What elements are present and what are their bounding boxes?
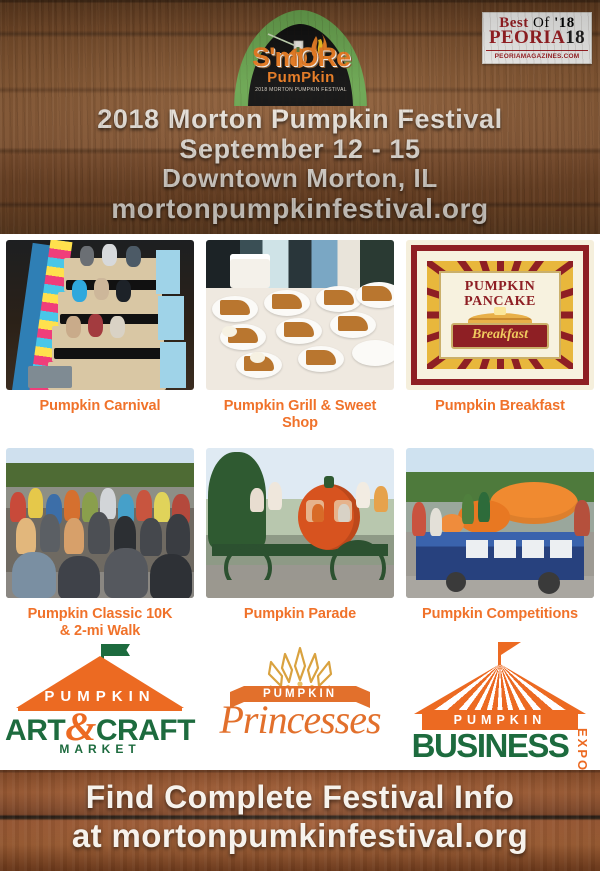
feature-pumpkin-grill-sweet-shop[interactable]: Pumpkin Grill & Sweet Shop (200, 240, 400, 432)
caption-pumpkin-parade: Pumpkin Parade (206, 606, 394, 623)
runner (166, 514, 190, 556)
photo-pumpkin-parade (206, 448, 394, 598)
header-title-line-3: Downtown Morton, IL (0, 164, 600, 193)
caption-pumpkin-carnival: Pumpkin Carnival (6, 398, 194, 415)
parade-rider (312, 504, 324, 522)
photo-pumpkin-grill-sweet-shop (206, 240, 394, 390)
logo-year: 2018 (255, 87, 267, 93)
logo-pumpkin-princesses[interactable]: PUMPKIN Princesses (200, 640, 400, 765)
runner (136, 490, 152, 521)
footer-line-2: at mortonpumkinfestival.org (0, 816, 600, 856)
rider (94, 278, 109, 300)
poster-frame: PUMPKIN PANCAKE Breakfast (411, 245, 589, 385)
runner (150, 554, 192, 598)
pie-slice (362, 286, 392, 301)
spectator (412, 502, 426, 536)
spectator (574, 500, 590, 536)
tent-pole-icon (498, 642, 501, 668)
business-expo-wordmark: BUSINESS (406, 728, 574, 764)
logo-pumpkin-text: PumPkin (236, 70, 366, 86)
entry-card (522, 540, 544, 558)
runner (40, 514, 60, 552)
float-rider (462, 494, 474, 524)
float-wheel (446, 572, 466, 592)
runner (28, 488, 43, 518)
runner (140, 518, 162, 556)
photo-pumpkin-competitions (406, 448, 594, 598)
caption-pumpkin-grill-sweet-shop: Pumpkin Grill & Sweet Shop (206, 398, 394, 432)
pie-slice (272, 294, 302, 309)
whipped-cream (250, 352, 265, 363)
princesses-wordmark: Princesses (200, 696, 400, 744)
photo-pumpkin-breakfast: PUMPKIN PANCAKE Breakfast (406, 240, 594, 390)
best-of-peoria-2018-badge: Best Of '18 PEORIA18 PEORIAMAGAZINES.COM (482, 12, 592, 64)
entry-card (466, 540, 488, 558)
footer-line-1: Find Complete Festival Info (0, 778, 600, 816)
caption-pumpkin-breakfast: Pumpkin Breakfast (406, 398, 594, 415)
poster-title: PUMPKIN PANCAKE (441, 279, 559, 309)
art-craft-word-market: MARKET (0, 742, 200, 756)
business-expo-word-expo: EXPO (572, 728, 590, 764)
footer-wood-banner: Find Complete Festival Info at mortonpum… (0, 770, 600, 871)
runner (88, 512, 110, 554)
caption-pumpkin-classic-10k: Pumpkin Classic 10K & 2-mi Walk (6, 606, 194, 640)
caption-pumpkin-competitions: Pumpkin Competitions (406, 606, 594, 623)
header-wood-banner: S'mORe PumPkin 2018 MORTON PUMPKIN FESTI… (0, 0, 600, 234)
caption-line-2: & 2-mi Walk (6, 623, 194, 640)
poster-inner-panel: PUMPKIN PANCAKE Breakfast (439, 271, 561, 359)
float-wheel (538, 572, 560, 594)
entry-card (494, 540, 516, 558)
feature-pumpkin-parade[interactable]: Pumpkin Parade (200, 448, 400, 623)
badge-website: PEORIAMAGAZINES.COM (486, 50, 588, 61)
logo-festival-name: MORTON PUMPKIN FESTIVAL (269, 87, 347, 93)
parade-rider (356, 482, 370, 508)
footer-call-to-action: Find Complete Festival Info at mortonpum… (0, 778, 600, 856)
runner (58, 556, 100, 598)
float-rider (478, 492, 490, 522)
tent-flag-icon (104, 644, 130, 656)
pie-slice (306, 350, 336, 365)
ride-panel (156, 250, 180, 294)
program-logo-row: PUMPKIN ART&CRAFT MARKET PUMPK (0, 640, 600, 765)
runner (154, 492, 170, 522)
rider (116, 280, 131, 302)
badge-word-eighteen: 18 (565, 27, 585, 48)
morton-pumpkin-festival-poster: S'mORe PumPkin 2018 MORTON PUMPKIN FESTI… (0, 0, 600, 871)
header-title-line-1: 2018 Morton Pumpkin Festival (0, 104, 600, 134)
photo-pumpkin-carnival (6, 240, 194, 390)
header-website: mortonpumpkinfestival.org (0, 193, 600, 225)
runner (64, 518, 84, 554)
cake-container (230, 254, 270, 288)
entry-card (550, 540, 572, 558)
feature-grid: Pumpkin Carnival (0, 240, 600, 640)
pie-slice (284, 322, 314, 337)
small-pumpkin (440, 514, 464, 534)
pumpkin-stem (324, 476, 334, 488)
feature-row-1: Pumpkin Carnival (0, 240, 600, 432)
feature-pumpkin-breakfast[interactable]: PUMPKIN PANCAKE Breakfast Pumpkin Breakf… (400, 240, 600, 415)
photo-pumpkin-classic-10k (6, 448, 194, 598)
parade-rider (268, 482, 282, 510)
feature-row-2: Pumpkin Classic 10K & 2-mi Walk (0, 448, 600, 640)
smore-pumpkin-logo: S'mORe PumPkin 2018 MORTON PUMPKIN FESTI… (228, 8, 373, 110)
butter-pat (494, 307, 506, 315)
parade-rider (250, 488, 264, 512)
feature-pumpkin-competitions[interactable]: Pumpkin Competitions (400, 448, 600, 623)
art-craft-word-pumpkin: PUMPKIN (16, 688, 184, 705)
parade-rider (338, 504, 350, 522)
header-title-line-2: September 12 - 15 (0, 134, 600, 164)
poster-title-line-1: PUMPKIN (441, 279, 559, 294)
ride-seat (54, 348, 162, 359)
striped-tent-icon (414, 664, 586, 714)
poster-breakfast-band: Breakfast (451, 323, 549, 349)
rider (88, 314, 103, 337)
rider (80, 246, 94, 266)
badge-line-peoria: PEORIA18 (486, 29, 588, 47)
spectator (430, 508, 442, 536)
tent-flag-icon (501, 642, 521, 655)
rider (102, 244, 117, 266)
logo-pumpkin-art-craft-market[interactable]: PUMPKIN ART&CRAFT MARKET (0, 640, 200, 765)
rider (110, 316, 125, 338)
whipped-cream (222, 326, 237, 337)
feature-pumpkin-classic-10k[interactable]: Pumpkin Classic 10K & 2-mi Walk (0, 448, 200, 640)
rider (66, 316, 81, 338)
ride-panel (158, 296, 184, 340)
ride-base (28, 366, 72, 388)
pie-slice (324, 290, 354, 305)
pie-plate (352, 340, 394, 366)
runner (104, 548, 148, 598)
runner (16, 518, 36, 554)
badge-word-peoria: PEORIA (489, 27, 565, 48)
pie-slice (220, 300, 250, 315)
logo-pumpkin-business-expo[interactable]: PUMPKIN BUSINESS EXPO (400, 640, 600, 765)
rider (126, 246, 141, 267)
pie-slice (338, 316, 368, 331)
ride-panel (160, 342, 186, 388)
caption-line-1: Pumpkin Classic 10K (6, 606, 194, 623)
feature-pumpkin-carnival[interactable]: Pumpkin Carnival (0, 240, 200, 415)
parade-rider (374, 486, 388, 512)
parade-street (206, 580, 394, 598)
rider (72, 280, 87, 302)
header-titles: 2018 Morton Pumpkin Festival September 1… (0, 104, 600, 225)
logo-tagline: 2018 MORTON PUMPKIN FESTIVAL (236, 87, 366, 93)
runner (12, 552, 56, 598)
runner (64, 490, 80, 521)
logo-smore-text: S'mORe (236, 44, 366, 71)
